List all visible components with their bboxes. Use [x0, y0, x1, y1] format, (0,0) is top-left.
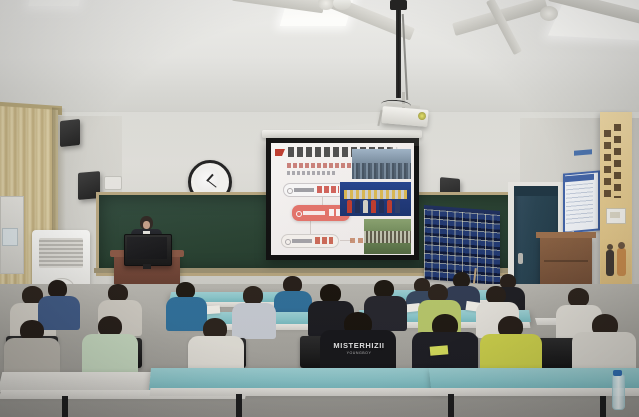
classroom-desk-front-center [149, 368, 451, 390]
banner-figure-head [607, 244, 613, 250]
slide-photo-figure [347, 200, 352, 213]
slide-photo-outdoor-people [364, 231, 411, 243]
slide-photo-figure [395, 200, 400, 213]
desk-leg [62, 396, 68, 417]
door-handle[interactable] [518, 253, 523, 264]
classroom-scene: MISTERHIZII YOUNGBOY [0, 0, 639, 417]
water-bottle[interactable] [612, 374, 625, 410]
slide-flow-step-3-text [292, 239, 312, 243]
banner-calligraphy-column [614, 124, 621, 198]
hoodie-text-secondary: YOUNGBOY [340, 351, 378, 355]
slide-flow-step-1-text [294, 188, 314, 192]
slide-photo-figure [355, 200, 360, 213]
banner-calligraphy-column [604, 130, 611, 198]
wall-note [2, 228, 18, 246]
slide-photo-figure [363, 200, 368, 213]
banner-wall-box-inner [610, 212, 620, 218]
slide-subtitle-secondary [287, 171, 337, 175]
slide-flow-connector [310, 221, 311, 234]
slide-flow-step-2-text [303, 211, 325, 215]
side-cabinet-top [536, 232, 596, 238]
banner-figure [617, 248, 626, 276]
banner-figure [606, 250, 614, 276]
podium-monitor-stand [143, 264, 151, 269]
side-cabinet-seam [544, 260, 588, 262]
banner-figure-head [618, 242, 625, 249]
desk-edge [150, 388, 453, 396]
air-conditioner-vent [39, 238, 83, 268]
classroom-desk-front-right [429, 368, 639, 390]
wall-speaker [60, 119, 80, 147]
slide-photo-figure [379, 200, 384, 213]
slide-bullet-icon [296, 211, 302, 217]
podium-monitor-screen [127, 237, 167, 259]
desk-leg [236, 394, 242, 417]
fluorescent-light-panel [28, 0, 81, 6]
slide-flow-step-1-emphasis [317, 186, 339, 193]
slide-flow-step-3-emphasis [315, 237, 333, 244]
desk-leg [448, 394, 454, 417]
slide-photo-figure [387, 200, 392, 213]
slide-bullet-icon [285, 239, 291, 245]
slide-photo-stage-banner [344, 190, 407, 199]
desk-edge [430, 388, 639, 396]
hoodie-text-primary: MISTERHIZII [332, 341, 386, 350]
slide-photo-figure [371, 200, 376, 213]
presenter-face [143, 221, 150, 229]
slide-flow-connector [322, 197, 323, 205]
projector-mount-cap [390, 0, 407, 10]
desk-item [430, 345, 449, 356]
slide-bullet-icon [287, 188, 293, 194]
desk-leg [600, 396, 606, 417]
projector-mount-pole [396, 0, 401, 98]
water-bottle-cap[interactable] [613, 370, 622, 376]
wall-outlet[interactable] [104, 176, 122, 190]
slide-photo-audience-crowd [352, 163, 411, 179]
notice-rows [566, 183, 593, 225]
door-transom [514, 186, 558, 196]
